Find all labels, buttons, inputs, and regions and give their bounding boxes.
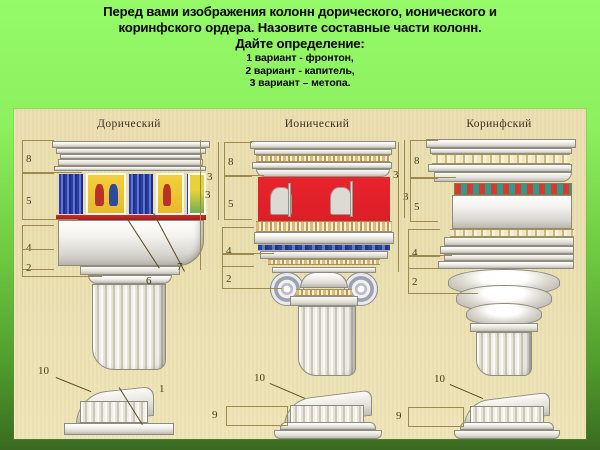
title-line-1: Перед вами изображения колонн дорическог…: [0, 4, 600, 20]
column-heading-ionic: Ионический: [242, 118, 392, 130]
variant-3: 3 вариант – метопа.: [0, 77, 600, 90]
slide-title-block: Перед вами изображения колонн дорическог…: [0, 4, 600, 90]
corinthian-label-2: 2: [412, 276, 418, 288]
title-line-2: коринфского ордера. Назовите составные ч…: [0, 20, 600, 36]
doric-label-3: 3: [205, 189, 211, 201]
ionic-label-9: 9: [212, 409, 218, 421]
ionic-label-5: 5: [228, 198, 234, 210]
corinthian-label-9: 9: [396, 410, 402, 422]
doric-label-1: 1: [159, 383, 165, 395]
doric-label-5: 5: [26, 195, 32, 207]
doric-label-6: 6: [146, 275, 152, 287]
variant-2: 2 вариант - капитель,: [0, 65, 600, 78]
corinthian-label-10: 10: [434, 373, 445, 385]
orders-diagram-panel: Дорический Ионический Коринфский: [14, 109, 586, 439]
corinthian-label-5: 5: [414, 201, 420, 213]
corinthian-label-8: 8: [414, 155, 420, 167]
ionic-label-10: 10: [254, 372, 265, 384]
doric-label-7: 7: [177, 261, 183, 273]
ionic-label-3-left: 3: [207, 171, 213, 183]
variant-1: 1 вариант - фронтон,: [0, 52, 600, 65]
column-heading-corinthian: Коринфский: [424, 118, 574, 130]
doric-label-2: 2: [26, 262, 32, 274]
doric-label-10: 10: [38, 365, 49, 377]
title-line-3: Дайте определение:: [0, 36, 600, 52]
doric-label-8: 8: [26, 153, 32, 165]
column-heading-doric: Дорический: [54, 118, 204, 130]
ionic-label-8: 8: [228, 156, 234, 168]
ionic-label-2: 2: [226, 273, 232, 285]
corinthian-label-3: 3: [393, 169, 399, 181]
